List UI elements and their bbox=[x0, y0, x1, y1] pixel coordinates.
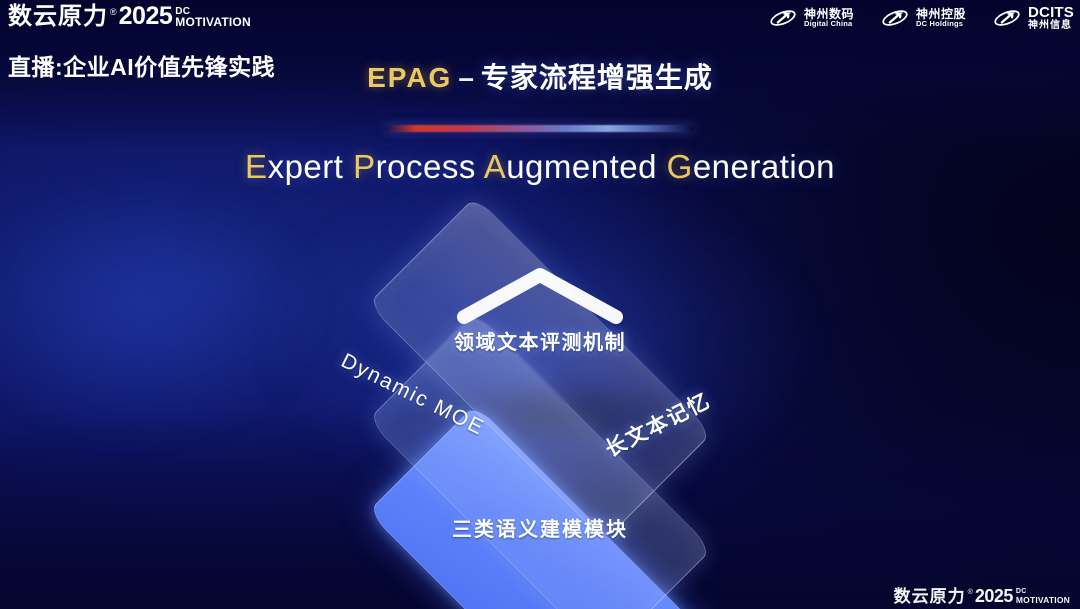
brand-registered-mark: ® bbox=[110, 8, 117, 29]
partner-logo-dc-holdings: 神州控股 DC Holdings bbox=[880, 7, 966, 29]
subtitle-word-generation: Generation bbox=[667, 148, 835, 185]
partner-text: 神州控股 DC Holdings bbox=[916, 8, 966, 28]
swoosh-logo-icon bbox=[992, 7, 1022, 29]
brand-logo: 数云原力 ® 2025 DC MOTIVATION bbox=[8, 4, 251, 29]
partner-logo-digital-china: 神州数码 Digital China bbox=[768, 7, 854, 29]
partner-name-en: Digital China bbox=[804, 20, 854, 28]
footer-watermark-logo: 数云原力 ® 2025 DC MOTIVATION bbox=[894, 587, 1070, 605]
partner-name-en: DC Holdings bbox=[916, 20, 966, 28]
subtitle-word-expert: Expert bbox=[245, 148, 343, 185]
partner-text: DCITS 神州信息 bbox=[1028, 5, 1074, 31]
subtitle-rest-generation: eneration bbox=[693, 148, 835, 185]
slide-canvas: 数云原力 ® 2025 DC MOTIVATION 直播:企业AI价值先锋实践 … bbox=[0, 0, 1080, 609]
subtitle-initial-e: E bbox=[245, 148, 268, 185]
partner-name-cn: DCITS bbox=[1028, 5, 1074, 21]
watermark-year: 2025 bbox=[975, 587, 1013, 605]
subtitle-word-process: Process bbox=[353, 148, 476, 185]
title-chinese: 专家流程增强生成 bbox=[481, 62, 713, 93]
subtitle-rest-expert: xpert bbox=[268, 148, 344, 185]
partner-logo-group: 神州数码 Digital China 神州控股 DC Holdings DCIT… bbox=[768, 5, 1074, 31]
partner-text: 神州数码 Digital China bbox=[804, 8, 854, 28]
watermark-motivation-text: MOTIVATION bbox=[1016, 596, 1070, 604]
layer-label-bottom: 三类语义建模模块 bbox=[452, 513, 628, 542]
subtitle-initial-p: P bbox=[353, 148, 376, 185]
layered-architecture-diagram: 领域文本评测机制 Dynamic MOE 长文本记忆 三类语义建模模块 bbox=[260, 231, 820, 561]
brand-dc-motivation: DC MOTIVATION bbox=[175, 7, 251, 29]
subtitle-initial-a: A bbox=[484, 148, 507, 185]
swoosh-logo-icon bbox=[880, 7, 910, 29]
layer-label-top: 领域文本评测机制 bbox=[454, 326, 626, 355]
subtitle-initial-g: G bbox=[667, 148, 693, 185]
watermark-name-cn: 数云原力 bbox=[894, 588, 966, 605]
subtitle-rest-augmented: ugmented bbox=[506, 148, 657, 185]
watermark-dc-motivation: DC MOTIVATION bbox=[1016, 589, 1070, 605]
subtitle-word-augmented: Augmented bbox=[484, 148, 657, 185]
partner-logo-dcits: DCITS 神州信息 bbox=[992, 5, 1074, 31]
brand-name-cn: 数云原力 bbox=[8, 5, 108, 29]
watermark-registered-mark: ® bbox=[968, 589, 973, 605]
swoosh-logo-icon bbox=[768, 7, 798, 29]
subtitle-expansion: Expert Process Augmented Generation bbox=[0, 148, 1080, 186]
brand-motivation-text: MOTIVATION bbox=[175, 17, 251, 28]
subtitle-rest-process: rocess bbox=[376, 148, 476, 185]
gradient-divider bbox=[385, 125, 695, 132]
title-dash: – bbox=[452, 62, 481, 93]
page-title: EPAG–专家流程增强生成 bbox=[0, 56, 1080, 96]
partner-name-en: 神州信息 bbox=[1028, 21, 1074, 32]
brand-year: 2025 bbox=[119, 4, 173, 29]
chevron-up-icon bbox=[450, 261, 630, 331]
title-acronym: EPAG bbox=[367, 62, 452, 93]
